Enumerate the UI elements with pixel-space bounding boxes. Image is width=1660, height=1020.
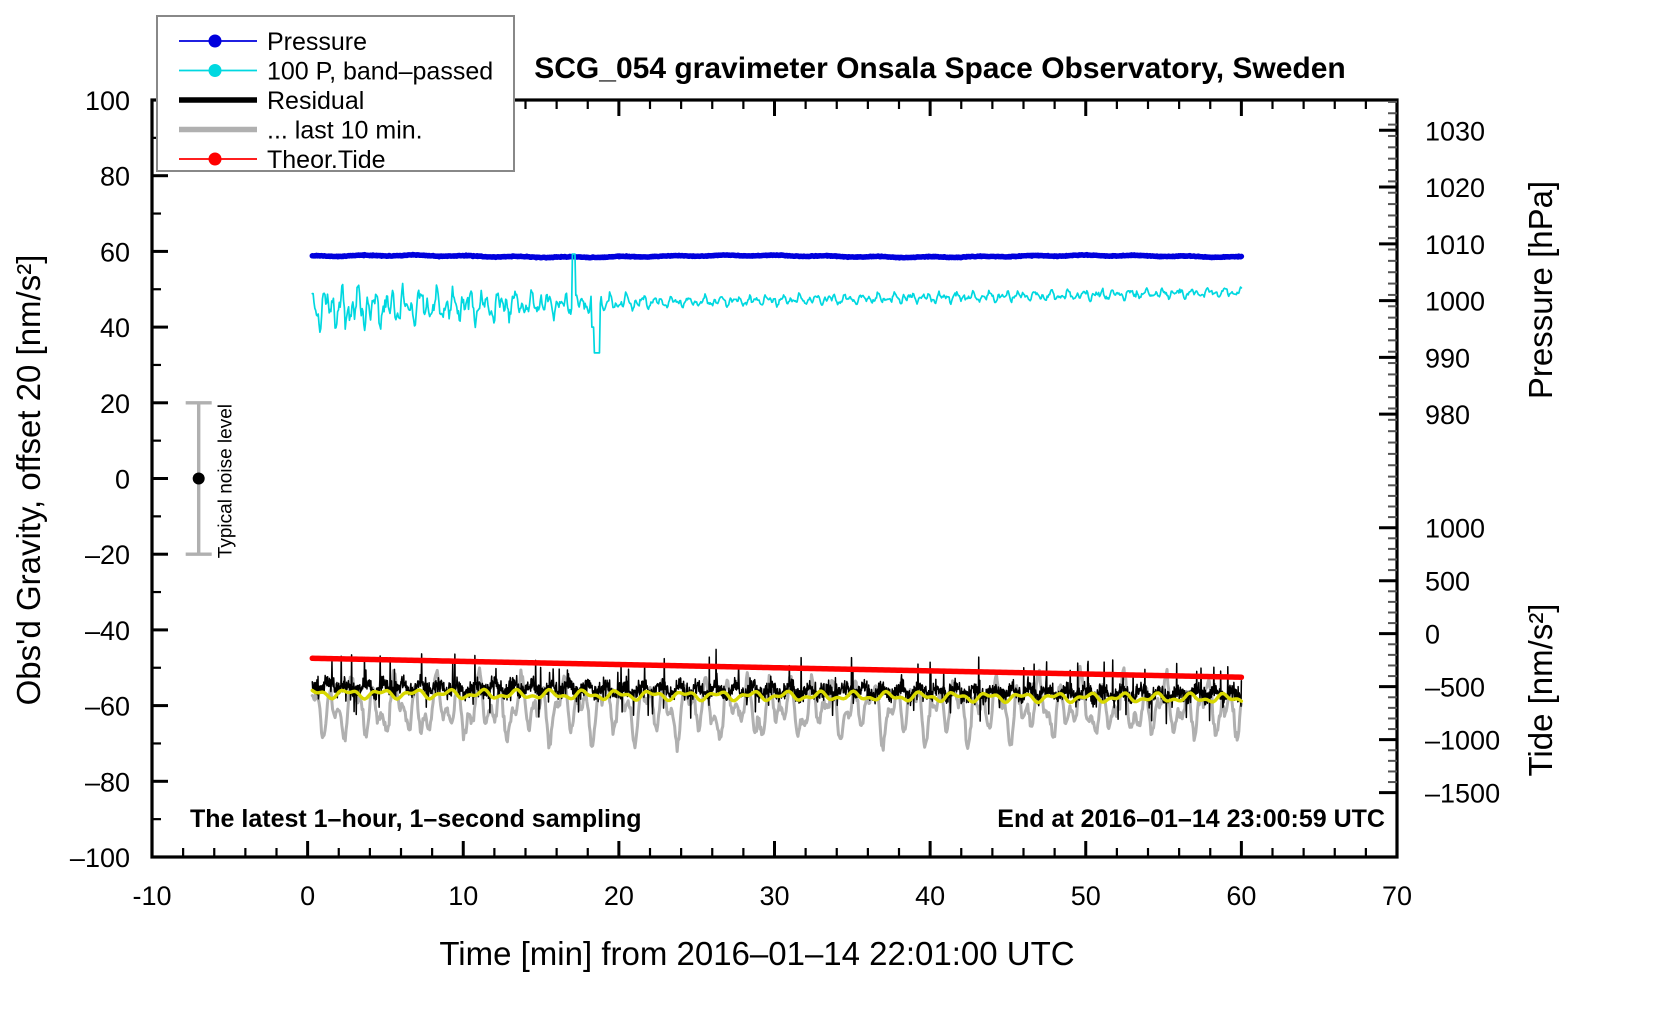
y-tick-label: 60 — [100, 237, 130, 267]
y-tick-label: 80 — [100, 162, 130, 192]
pressure-tick-label: 1000 — [1425, 287, 1485, 317]
tide-tick-label: –500 — [1425, 673, 1485, 703]
y-tick-label: 0 — [115, 465, 130, 495]
tide-tick-label: 0 — [1425, 620, 1440, 650]
noise-level-label: Typical noise level — [216, 404, 237, 558]
legend-group[interactable]: Pressure100 P, band–passedResidual... la… — [157, 16, 514, 174]
tide-tick-label: 1000 — [1425, 514, 1485, 544]
series-pressure — [312, 255, 1241, 258]
y-tick-label: 20 — [100, 389, 130, 419]
y-tick-label: –20 — [85, 540, 130, 570]
x-tick-label: 70 — [1382, 881, 1412, 911]
chart-page: 100806040200–20–40–60–80–100-10010203040… — [0, 0, 1660, 1020]
y-tick-label: –80 — [85, 767, 130, 797]
y-axis-title: Obs'd Gravity, offset 20 [nm/s²] — [10, 255, 47, 706]
x-axis-title: Time [min] from 2016–01–14 22:01:00 UTC — [439, 935, 1074, 972]
legend-label: Theor.Tide — [267, 146, 386, 174]
y-tick-label: –100 — [70, 843, 130, 873]
legend-swatch-dot — [209, 35, 222, 48]
x-tick-label: 0 — [300, 881, 315, 911]
noise-bar-center-dot — [193, 473, 205, 485]
y-tick-label: –60 — [85, 692, 130, 722]
legend-label: 100 P, band–passed — [267, 58, 493, 86]
pressure-tick-label: 980 — [1425, 400, 1470, 430]
y-tick-label: 100 — [85, 86, 130, 116]
x-tick-label: -10 — [132, 881, 171, 911]
legend-swatch-dot — [209, 64, 222, 77]
tide-tick-label: –1500 — [1425, 779, 1500, 809]
y-tick-label: 40 — [100, 313, 130, 343]
legend-swatch-dot — [209, 153, 222, 166]
pressure-tick-label: 1020 — [1425, 173, 1485, 203]
tide-tick-label: –1000 — [1425, 726, 1500, 756]
tide-axis-title: Tide [nm/s²] — [1522, 604, 1559, 777]
gravimeter-timeseries-chart: 100806040200–20–40–60–80–100-10010203040… — [0, 0, 1660, 1020]
pressure-tick-label: 1010 — [1425, 230, 1485, 260]
pressure-tick-label: 990 — [1425, 343, 1470, 373]
chart-title: SCG_054 gravimeter Onsala Space Observat… — [534, 52, 1346, 85]
legend-label: ... last 10 min. — [267, 117, 423, 145]
x-tick-label: 30 — [759, 881, 789, 911]
pressure-tick-label: 1030 — [1425, 116, 1485, 146]
x-tick-label: 20 — [604, 881, 634, 911]
pressure-axis-title: Pressure [hPa] — [1522, 181, 1559, 399]
x-tick-label: 50 — [1071, 881, 1101, 911]
tide-tick-label: 500 — [1425, 567, 1470, 597]
sampling-note: The latest 1–hour, 1–second sampling — [190, 805, 642, 833]
end-time-note: End at 2016–01–14 23:00:59 UTC — [997, 805, 1385, 833]
x-tick-label: 60 — [1226, 881, 1256, 911]
y-tick-label: –40 — [85, 616, 130, 646]
legend-label: Residual — [267, 87, 364, 115]
legend-label: Pressure — [267, 28, 367, 56]
x-tick-label: 40 — [915, 881, 945, 911]
x-tick-label: 10 — [448, 881, 478, 911]
